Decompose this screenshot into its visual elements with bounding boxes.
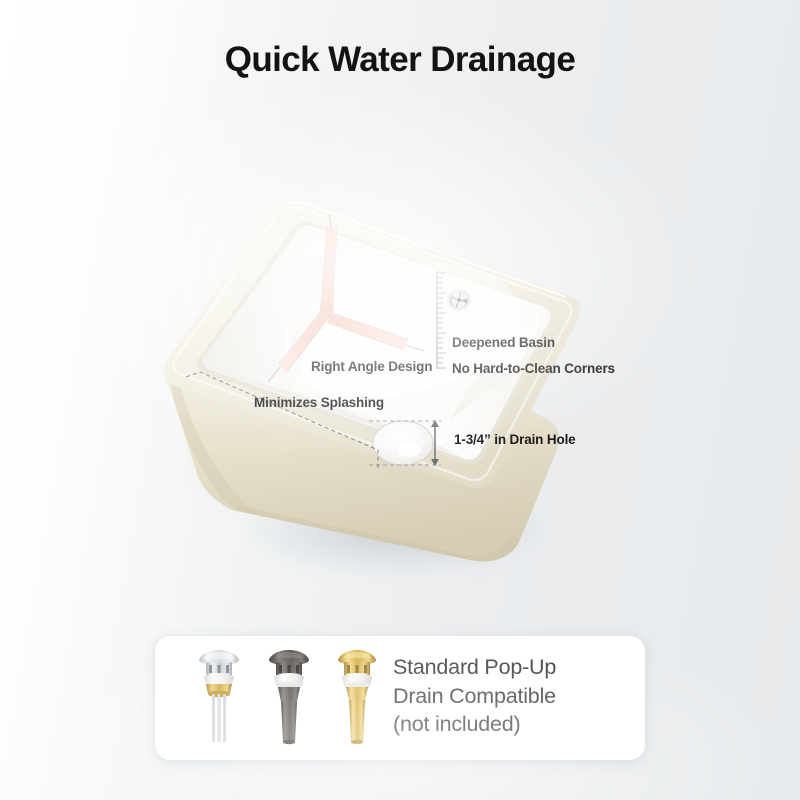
compatibility-line-3: (not included) xyxy=(393,710,629,739)
compatibility-text: Standard Pop-Up Drain Compatible (not in… xyxy=(393,653,629,739)
callout-drain-hole-size: 1-3/4” in Drain Hole xyxy=(454,432,576,447)
product-marketing-image: Quick Water Drainage xyxy=(0,0,800,800)
pop-up-drain-images xyxy=(189,644,389,752)
chrome-pop-up-drain xyxy=(199,650,239,742)
callout-right-angle-design: Right Angle Design xyxy=(311,359,432,374)
callout-deepened-basin: Deepened Basin xyxy=(452,335,555,350)
compatibility-line-2: Drain Compatible xyxy=(393,682,629,711)
callout-minimizes-splashing: Minimizes Splashing xyxy=(254,395,384,410)
compatibility-line-1: Standard Pop-Up xyxy=(393,653,629,682)
callout-no-hard-to-clean-corners: No Hard-to-Clean Corners xyxy=(452,361,615,376)
sink-vector-art xyxy=(0,0,800,640)
compatibility-card: Standard Pop-Up Drain Compatible (not in… xyxy=(155,636,645,760)
overflow-drain-icon xyxy=(447,289,471,311)
matte-black-pop-up-drain xyxy=(269,650,309,744)
sink-product-photo: Right Angle Design Deepened Basin No Har… xyxy=(0,0,800,640)
brushed-gold-pop-up-drain xyxy=(338,650,376,744)
